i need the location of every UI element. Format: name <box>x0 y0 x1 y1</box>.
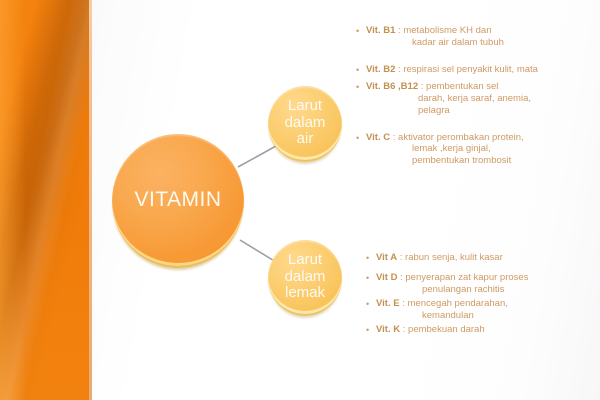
label-line: Larut <box>288 97 322 114</box>
list-item: • Vit. B6 ,B12 : pembentukan sel darah, … <box>356 81 598 117</box>
list-item-sep: : <box>418 81 426 92</box>
list-item-text: Vit D : penyerapan zat kapur proses penu… <box>376 272 598 296</box>
bullet-icon: • <box>356 81 366 93</box>
list-item-first: pembentukan sel <box>426 81 498 92</box>
list-item-lead: Vit. E <box>376 298 400 309</box>
list-item-cont: penulangan rachitis <box>376 284 598 296</box>
list-item-first: penyerapan zat kapur proses <box>405 272 528 283</box>
list-item-first: mencegah pendarahan, <box>408 298 508 309</box>
list-item-sep: : <box>400 298 408 309</box>
list-item: • Vit. B1 : metabolisme KH dan kadar air… <box>356 25 598 49</box>
list-item-cont: pelagra <box>366 105 598 117</box>
label-line: lemak <box>285 284 325 301</box>
list-item-text: Vit. E : mencegah pendarahan, kemandulan <box>376 298 598 322</box>
list-item-sep: : <box>400 324 408 335</box>
list-item-cont: kemandulan <box>376 310 598 322</box>
list-item: • Vit. C : aktivator perombakan protein,… <box>356 132 598 168</box>
list-item-sep: : <box>390 132 398 143</box>
bullet-icon: • <box>366 324 376 336</box>
node-larut-dalam-air[interactable]: Larut dalam air <box>268 86 342 162</box>
fat-soluble-list: • Vit A : rabun senja, kulit kasar • Vit… <box>366 252 598 338</box>
list-item-cont: pembentukan trombosit <box>366 155 598 167</box>
node-vitamin-root[interactable]: VITAMIN <box>112 134 244 268</box>
list-item-text: Vit. K : pembekuan darah <box>376 324 598 336</box>
list-item-first: metabolisme KH dan <box>403 25 491 36</box>
spacer <box>356 51 598 64</box>
list-item: • Vit D : penyerapan zat kapur proses pe… <box>366 272 598 296</box>
list-item-lead: Vit. K <box>376 324 400 335</box>
bullet-icon: • <box>356 25 366 37</box>
list-item-lead: Vit A <box>376 252 397 263</box>
list-item-text: Vit. B1 : metabolisme KH dan kadar air d… <box>366 25 598 49</box>
slide-canvas: VITAMIN Larut dalam air Larut dalam lema… <box>0 0 600 400</box>
list-item-lead: Vit. C <box>366 132 390 143</box>
label-line: Larut <box>288 251 322 268</box>
bullet-icon: • <box>366 252 376 264</box>
bullet-icon: • <box>356 64 366 76</box>
label-line: dalam <box>285 114 326 131</box>
list-item-lead: Vit. B1 <box>366 25 395 36</box>
spacer <box>356 119 598 132</box>
label-line: dalam <box>285 268 326 285</box>
label-line: air <box>297 130 314 147</box>
bullet-icon: • <box>366 272 376 284</box>
list-item-text: Vit. B6 ,B12 : pembentukan sel darah, ke… <box>366 81 598 117</box>
list-item-text: Vit. B2 : respirasi sel penyakit kulit, … <box>366 64 598 76</box>
list-item-cont: darah, kerja saraf, anemia, <box>366 93 598 105</box>
list-item-text: Vit. C : aktivator perombakan protein, l… <box>366 132 598 168</box>
list-item: • Vit. K : pembekuan darah <box>366 324 598 336</box>
bullet-icon: • <box>356 132 366 144</box>
list-item-first: rabun senja, kulit kasar <box>405 252 503 263</box>
list-item-sep: : <box>397 252 405 263</box>
list-item-lead: Vit. B6 ,B12 <box>366 81 418 92</box>
node-larut-dalam-lemak[interactable]: Larut dalam lemak <box>268 240 342 316</box>
list-item: • Vit. B2 : respirasi sel penyakit kulit… <box>356 64 598 76</box>
node-larut-dalam-lemak-label: Larut dalam lemak <box>281 252 330 302</box>
list-item-first: pembekuan darah <box>408 324 485 335</box>
bullet-icon: • <box>366 298 376 310</box>
list-item-cont: lemak ,kerja ginjal, <box>366 143 598 155</box>
list-item-lead: Vit D <box>376 272 397 283</box>
node-larut-dalam-air-label: Larut dalam air <box>281 98 330 148</box>
list-item-lead: Vit. B2 <box>366 64 395 75</box>
node-vitamin-root-label: VITAMIN <box>134 188 221 212</box>
list-item: • Vit. E : mencegah pendarahan, kemandul… <box>366 298 598 322</box>
list-item: • Vit A : rabun senja, kulit kasar <box>366 252 598 264</box>
list-item-text: Vit A : rabun senja, kulit kasar <box>376 252 598 264</box>
water-soluble-list: • Vit. B1 : metabolisme KH dan kadar air… <box>356 25 598 169</box>
list-item-first: aktivator perombakan protein, <box>398 132 524 143</box>
list-item-cont: kadar air dalam tubuh <box>366 37 598 49</box>
list-item-first: respirasi sel penyakit kulit, mata <box>403 64 538 75</box>
